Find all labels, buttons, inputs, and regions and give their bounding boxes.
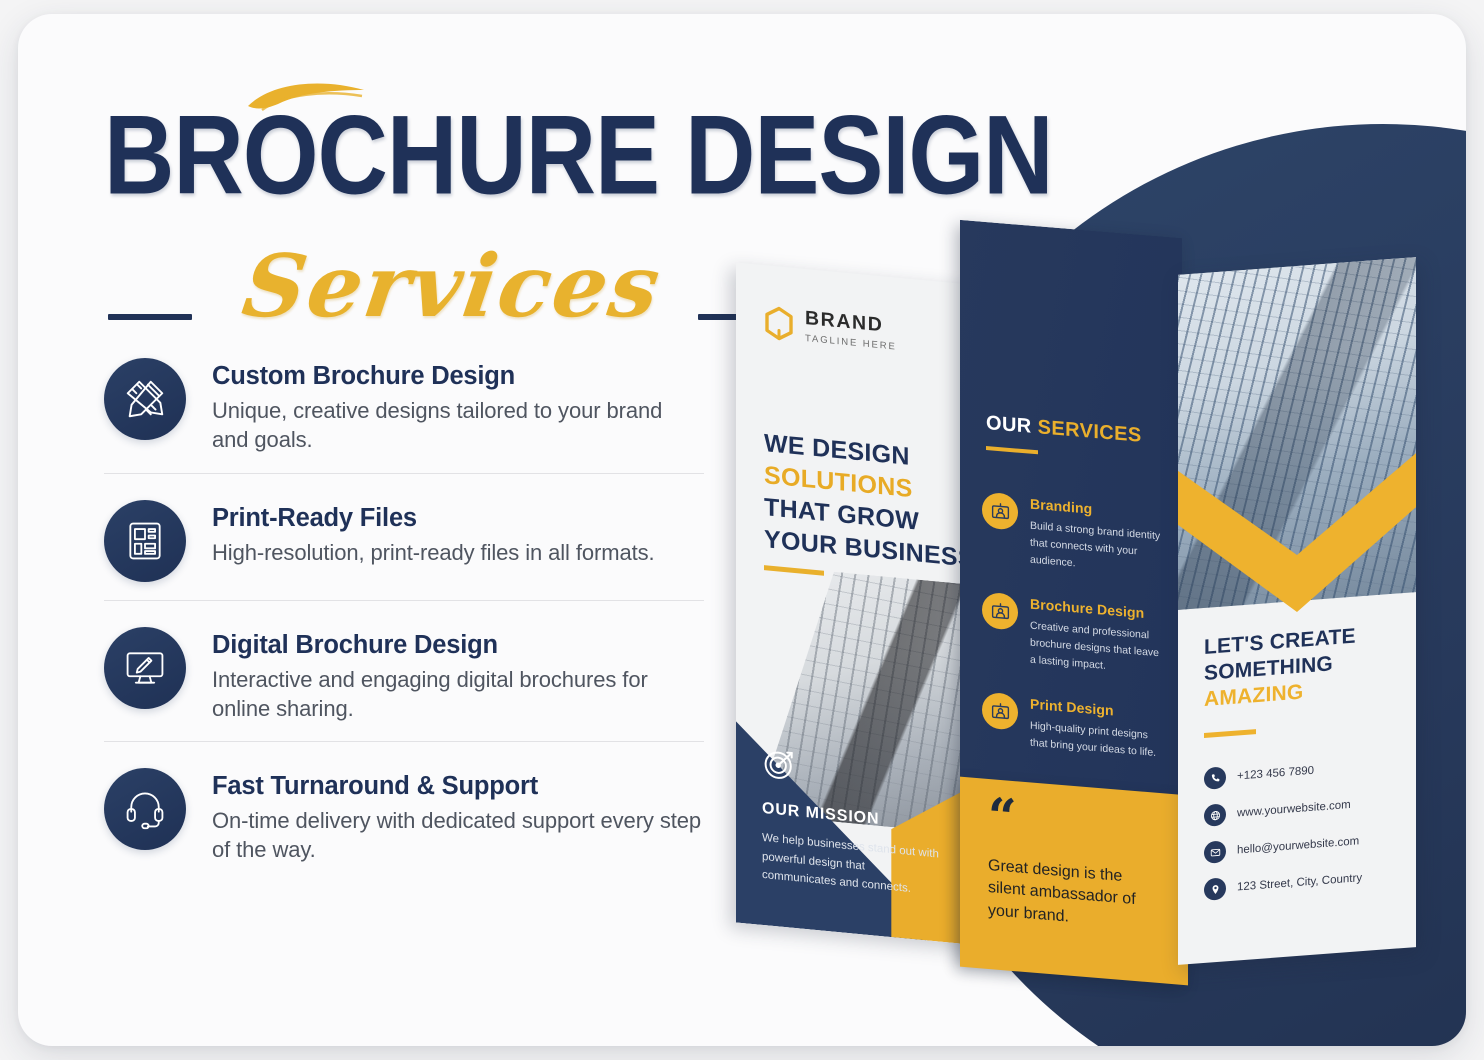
list-item: Digital Brochure Design Interactive and … [104,600,704,742]
list-item-text: Custom Brochure Design Unique, creative … [212,358,704,455]
list-item-title: Digital Brochure Design [212,631,704,660]
contact-address: 123 Street, City, Country [1204,865,1390,901]
cover-headline: WE DESIGN SOLUTIONS THAT GROW YOUR BUSIN… [764,427,975,575]
list-item-title: Custom Brochure Design [212,362,704,391]
list-item-text: Fast Turnaround & Support On-time delive… [212,768,704,865]
back-headline: LET'S CREATE SOMETHING AMAZING [1204,621,1390,713]
list-item-desc: High-resolution, print-ready files in al… [212,538,655,567]
headline-block: BROCHURE DESIGN Services [104,76,724,356]
list-item-text: Print-Ready Files High-resolution, print… [212,500,655,567]
poster-card: BROCHURE DESIGN Services [18,14,1466,1046]
target-dart-icon [762,744,798,783]
cover-gold-rule [764,565,824,576]
contact-email: hello@yourwebsite.com [1204,828,1390,864]
list-item-desc: On-time delivery with dedicated support … [212,806,704,865]
monitor-pencil-icon [104,627,186,709]
list-item: Print-Ready Files High-resolution, print… [104,473,704,600]
title-dash-left [108,314,192,320]
headset-icon [104,768,186,850]
list-item-desc: Unique, creative designs tailored to you… [212,396,704,455]
presentation-person-icon [982,592,1018,631]
presentation-person-icon [982,692,1018,731]
globe-icon [1204,803,1226,827]
brochure-back-panel: LET'S CREATE SOMETHING AMAZING +123 456 … [1178,257,1416,965]
phone-icon [1204,766,1226,790]
brochure-mockup: BRAND TAGLINE HERE WE DESIGN SOLUTIONS T… [708,74,1466,1034]
brand-logo: BRAND TAGLINE HERE [764,305,897,352]
contact-address-text: 123 Street, City, Country [1237,872,1362,893]
hexagon-logo-icon [764,305,794,342]
list-item-desc: Interactive and engaging digital brochur… [212,665,704,724]
script-title-row: Services [104,270,724,356]
ruler-pencil-icon [104,358,186,440]
contact-phone: +123 456 7890 [1204,754,1390,790]
mission-block: OUR MISSION We help businesses stand out… [762,744,940,902]
back-panel-body: LET'S CREATE SOMETHING AMAZING +123 456 … [1204,621,1390,916]
services-heading-white: OUR [986,412,1032,438]
brochure-cover-panel: BRAND TAGLINE HERE WE DESIGN SOLUTIONS T… [736,262,981,945]
list-item-title: Print-Ready Files [212,504,655,533]
email-icon [1204,840,1226,864]
page-title: BROCHURE DESIGN [104,102,761,210]
brochure-quote-panel: “ Great design is the silent ambassador … [960,777,1188,986]
location-pin-icon [1204,877,1226,901]
service-item: Brochure Design Creative and professiona… [982,592,1167,680]
contact-email-text: hello@yourwebsite.com [1237,835,1359,856]
list-item: Fast Turnaround & Support On-time delive… [104,741,704,883]
presentation-person-icon [982,492,1018,531]
list-item: Custom Brochure Design Unique, creative … [104,350,704,473]
service-item: Branding Build a strong brand identity t… [982,492,1167,580]
layout-grid-icon [104,500,186,582]
left-content-column: BROCHURE DESIGN Services [18,14,738,1046]
contact-website: www.yourwebsite.com [1204,791,1390,827]
back-gold-rule [1204,729,1256,738]
contact-website-text: www.yourwebsite.com [1237,799,1351,820]
list-item-title: Fast Turnaround & Support [212,772,704,801]
feature-list: Custom Brochure Design Unique, creative … [104,350,704,883]
page-subtitle-script: Services [237,236,667,337]
contact-phone-text: +123 456 7890 [1237,765,1314,783]
list-item-text: Digital Brochure Design Interactive and … [212,627,704,724]
quote-text: Great design is the silent ambassador of… [988,855,1148,935]
mission-title: OUR MISSION [762,800,940,835]
quote-mark-icon: “ [988,801,1017,833]
